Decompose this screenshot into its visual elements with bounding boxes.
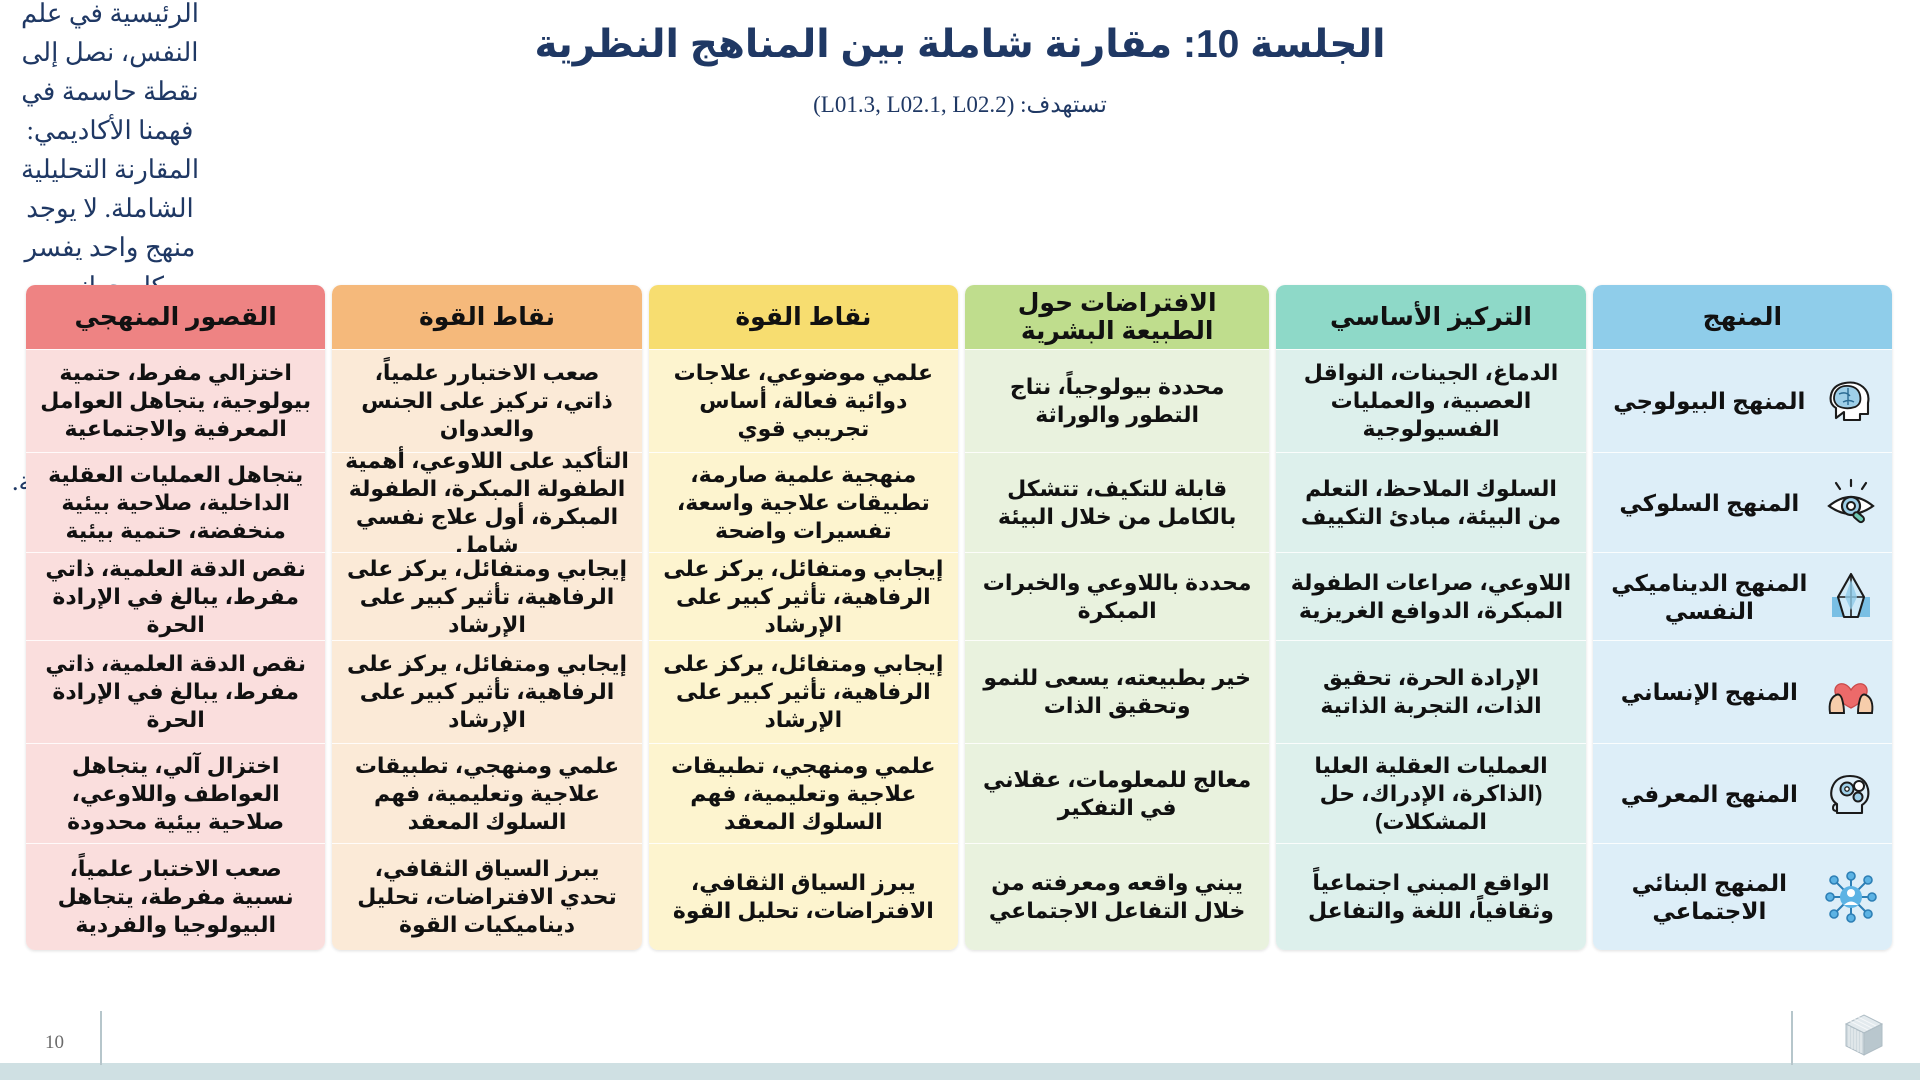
page-title: الجلسة 10: مقارنة شاملة بين المناهج النظ… — [0, 20, 1920, 70]
cube-logo-icon — [1840, 1010, 1888, 1060]
table-row[interactable]: المنهج المعرفي — [1593, 743, 1892, 843]
table-cell-limitations[interactable]: صعب الاختبار علمياً، نسبية مفرطة، يتجاهل… — [26, 843, 325, 950]
table-cell-assumptions[interactable]: محددة بيولوجياً، نتاج التطور والوراثة — [965, 349, 1269, 452]
column-primary-focus: التركيز الأساسي الدماغ، الجينات، النواقل… — [1276, 285, 1585, 950]
approach-label: المنهج البيولوجي — [1605, 387, 1814, 415]
table-cell-focus[interactable]: الإرادة الحرة، تحقيق الذات، التجربة الذا… — [1276, 640, 1585, 743]
table-cell-assumptions[interactable]: يبني واقعه ومعرفته من خلال التفاعل الاجت… — [965, 843, 1269, 950]
approach-label: المنهج الإنساني — [1605, 678, 1814, 706]
table-cell-focus[interactable]: السلوك الملاحظ، التعلم من البيئة، مبادئ … — [1276, 452, 1585, 552]
column-header-limitations: القصور المنهجي — [26, 285, 325, 349]
title-block: الجلسة 10: مقارنة شاملة بين المناهج النظ… — [0, 20, 1920, 118]
table-cell-limitations[interactable]: اختزالي مفرط، حتمية بيولوجية، يتجاهل الع… — [26, 349, 325, 452]
column-limitations: القصور المنهجي اختزالي مفرط، حتمية بيولو… — [26, 285, 325, 950]
heart-hands-icon — [1824, 665, 1878, 719]
column-header-focus: التركيز الأساسي — [1276, 285, 1585, 349]
table-cell-strengths-b[interactable]: يبرز السياق الثقافي، تحدي الافتراضات، تح… — [332, 843, 641, 950]
head-gears-icon — [1824, 767, 1878, 821]
table-row[interactable]: المنهج السلوكي — [1593, 452, 1892, 552]
table-cell-strengths-b[interactable]: صعب الاختبارر علمياً، ذاتي، تركيز على ال… — [332, 349, 641, 452]
table-cell-strengths-a[interactable]: يبرز السياق الثقافي، الافتراضات، تحليل ا… — [649, 843, 958, 950]
column-header-strengths-b: نقاط القوة — [332, 285, 641, 349]
column-header-strengths-a: نقاط القوة — [649, 285, 958, 349]
table-cell-strengths-a[interactable]: إيجابي ومتفائل، يركز على الرفاهية، تأثير… — [649, 640, 958, 743]
table-cell-focus[interactable]: الواقع المبني اجتماعياً وثقافياً، اللغة … — [1276, 843, 1585, 950]
column-strengths-b: نقاط القوة صعب الاختبارر علمياً، ذاتي، ت… — [332, 285, 641, 950]
table-row[interactable]: المنهج البنائي الاجتماعي — [1593, 843, 1892, 950]
footer-band — [0, 1063, 1920, 1080]
table-cell-strengths-b[interactable]: إيجابي ومتفائل، يركز على الرفاهية، تأثير… — [332, 552, 641, 640]
table-cell-focus[interactable]: اللاوعي، صراعات الطفولة المبكرة، الدوافع… — [1276, 552, 1585, 640]
approach-label: المنهج الديناميكي النفسي — [1605, 569, 1814, 625]
table-cell-limitations[interactable]: نقص الدقة العلمية، ذاتي مفرط، يبالغ في ا… — [26, 640, 325, 743]
table-cell-assumptions[interactable]: قابلة للتكيف، تتشكل بالكامل من خلال البي… — [965, 452, 1269, 552]
table-cell-strengths-b[interactable]: التأكيد على اللاوعي، أهمية الطفولة المبك… — [332, 452, 641, 552]
table-cell-limitations[interactable]: نقص الدقة العلمية، ذاتي مفرط، يبالغ في ا… — [26, 552, 325, 640]
slide-objectives: تستهدف: (L01.3, L02.1, L02.2) — [0, 92, 1920, 118]
column-strengths-a: نقاط القوة علمي موضوعي، علاجات دوائية فع… — [649, 285, 958, 950]
footer-divider-right — [1791, 1011, 1793, 1065]
table-cell-strengths-a[interactable]: منهجية علمية صارمة، تطبيقات علاجية واسعة… — [649, 452, 958, 552]
approach-label: المنهج البنائي الاجتماعي — [1605, 869, 1814, 925]
table-cell-strengths-a[interactable]: علمي ومنهجي، تطبيقات علاجية وتعليمية، فه… — [649, 743, 958, 843]
table-row[interactable]: المنهج البيولوجي — [1593, 349, 1892, 452]
table-cell-strengths-a[interactable]: علمي موضوعي، علاجات دوائية فعالة، أساس ت… — [649, 349, 958, 452]
approach-label: المنهج المعرفي — [1605, 780, 1814, 808]
column-approach: المنهج المنهج البيولوجي — [1593, 285, 1892, 950]
table-cell-assumptions[interactable]: محددة باللاوعي والخبرات المبكرة — [965, 552, 1269, 640]
table-cell-limitations[interactable]: يتجاهل العمليات العقلية الداخلية، صلاحية… — [26, 452, 325, 552]
brain-head-icon — [1824, 374, 1878, 428]
social-network-icon — [1824, 870, 1878, 924]
table-row[interactable]: المنهج الإنساني — [1593, 640, 1892, 743]
column-header-approach: المنهج — [1593, 285, 1892, 349]
footer-divider-left — [100, 1011, 102, 1065]
column-assumptions: الافتراضات حول الطبيعة البشرية محددة بيو… — [965, 285, 1269, 950]
column-header-assumptions: الافتراضات حول الطبيعة البشرية — [965, 285, 1269, 349]
eye-magnifier-icon — [1824, 476, 1878, 530]
table-row[interactable]: المنهج الديناميكي النفسي — [1593, 552, 1892, 640]
table-cell-strengths-a[interactable]: إيجابي ومتفائل، يركز على الرفاهية، تأثير… — [649, 552, 958, 640]
comparison-table: المنهج المنهج البيولوجي — [26, 285, 1892, 950]
table-cell-limitations[interactable]: اختزال آلي، يتجاهل العواطف واللاوعي، صلا… — [26, 743, 325, 843]
approach-label: المنهج السلوكي — [1605, 489, 1814, 517]
table-cell-focus[interactable]: الدماغ، الجينات، النواقل العصبية، والعمل… — [1276, 349, 1585, 452]
page-number: 10 — [45, 1032, 64, 1054]
iceberg-icon — [1824, 570, 1878, 624]
table-cell-assumptions[interactable]: معالج للمعلومات، عقلاني في التفكير — [965, 743, 1269, 843]
table-cell-assumptions[interactable]: خير بطبيعته، يسعى للنمو وتحقيق الذات — [965, 640, 1269, 743]
table-cell-strengths-b[interactable]: إيجابي ومتفائل، يركز على الرفاهية، تأثير… — [332, 640, 641, 743]
table-cell-strengths-b[interactable]: علمي ومنهجي، تطبيقات علاجية وتعليمية، فه… — [332, 743, 641, 843]
table-cell-focus[interactable]: العمليات العقلية العليا (الذاكرة، الإدرا… — [1276, 743, 1585, 843]
